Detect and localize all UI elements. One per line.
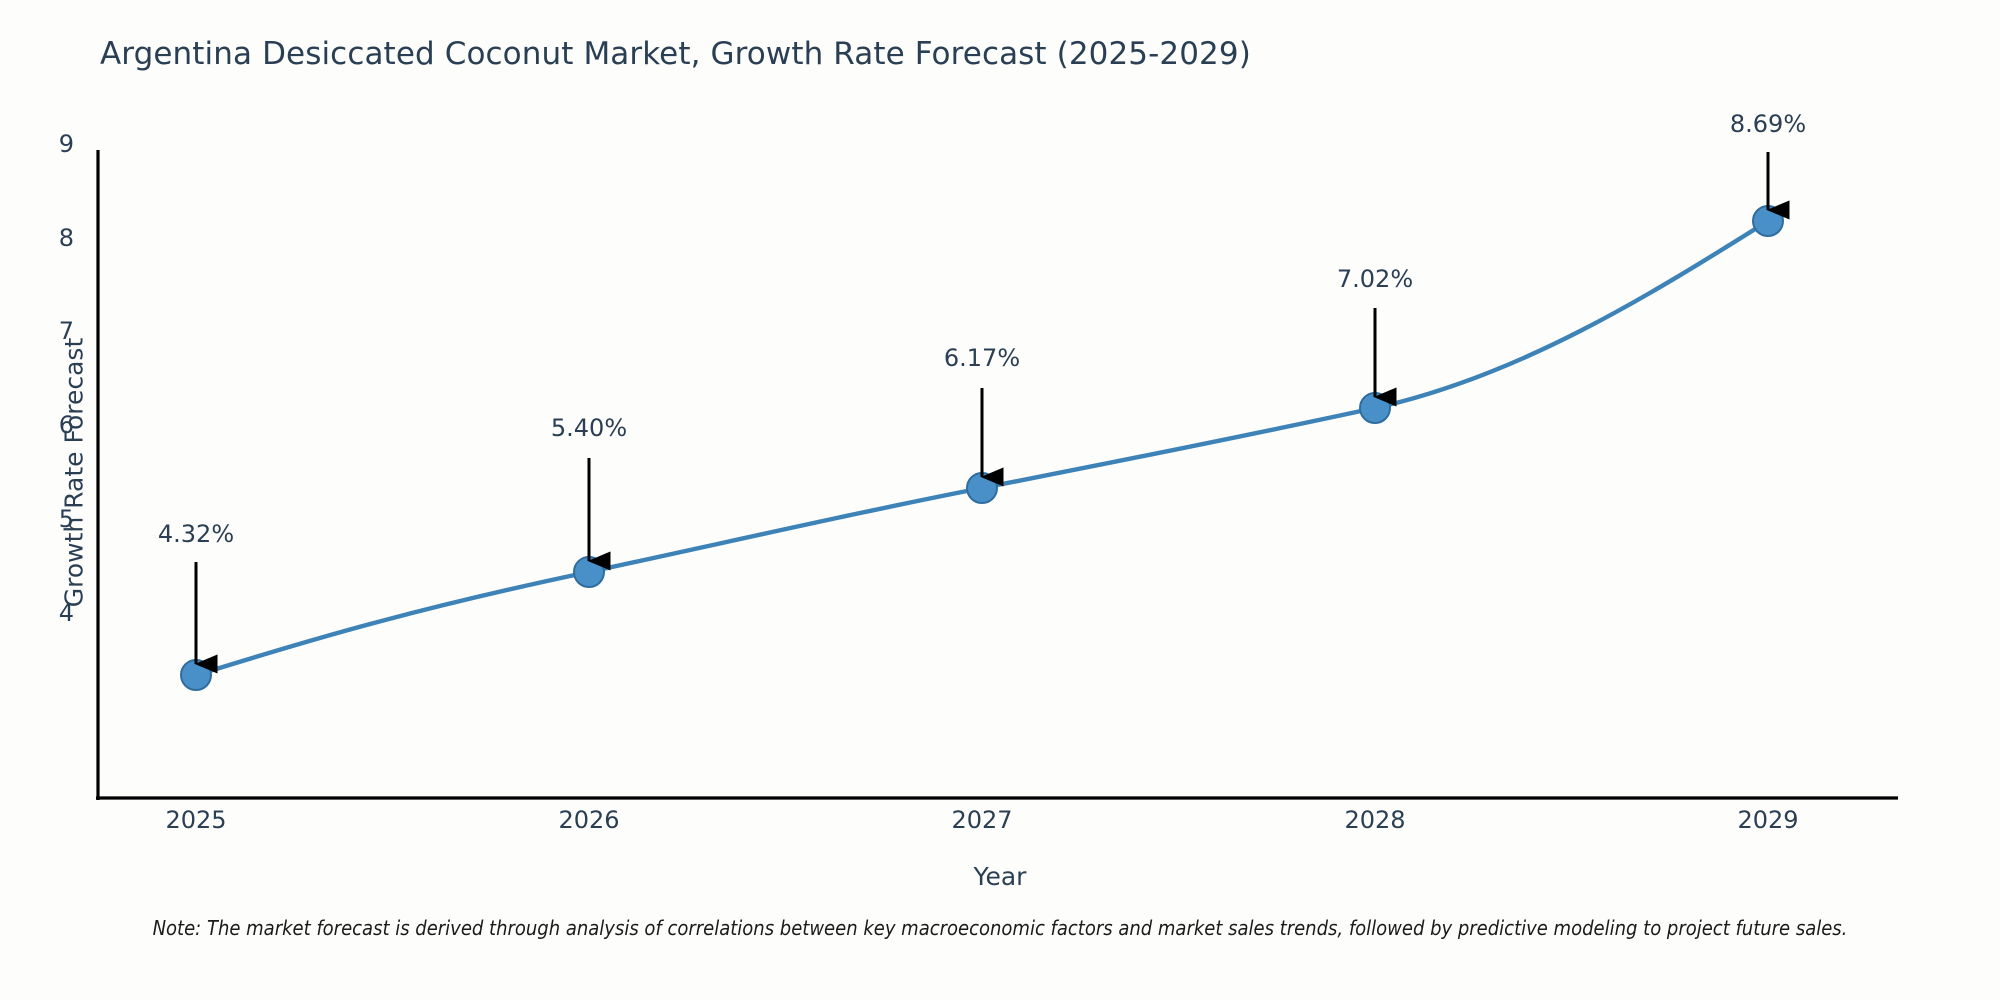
data-point-2027[interactable] bbox=[967, 473, 997, 503]
chart-canvas: Argentina Desiccated Coconut Market, Gro… bbox=[0, 0, 2000, 1000]
data-point-2029[interactable] bbox=[1753, 206, 1783, 236]
data-point-2025[interactable] bbox=[181, 660, 211, 690]
footnote-text: Note: The market forecast is derived thr… bbox=[0, 916, 2000, 940]
data-point-2028[interactable] bbox=[1360, 393, 1390, 423]
plot-area bbox=[0, 0, 2000, 1000]
data-point-2026[interactable] bbox=[574, 557, 604, 587]
